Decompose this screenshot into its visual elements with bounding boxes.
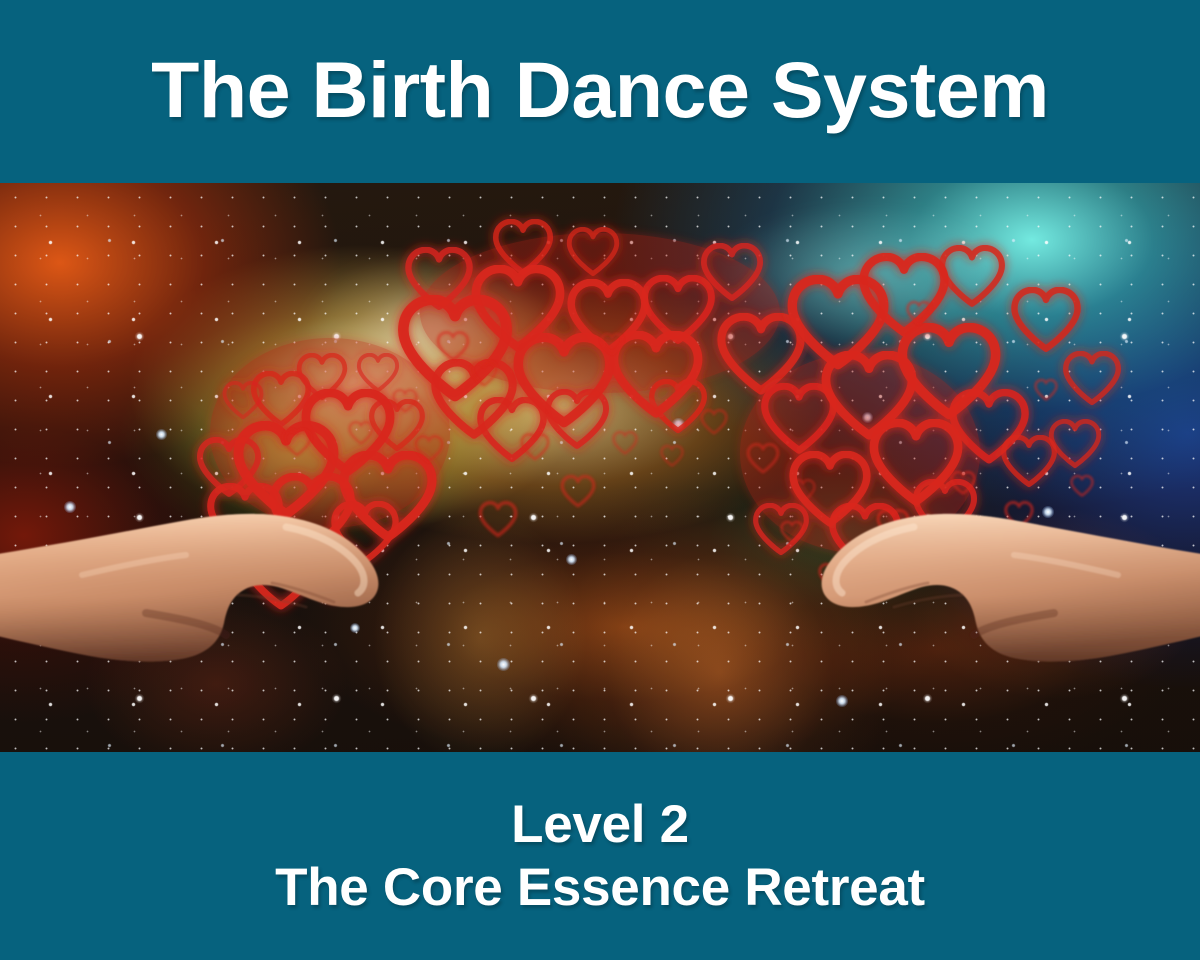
footer-band: Level 2 The Core Essence Retreat [0, 752, 1200, 960]
hero-image [0, 183, 1200, 752]
subtitle-label: The Core Essence Retreat [275, 860, 925, 915]
level-label: Level 2 [511, 797, 689, 852]
page-title: The Birth Dance System [151, 50, 1049, 129]
nebula-veil-bright [0, 183, 1200, 752]
poster-root: The Birth Dance System [0, 0, 1200, 960]
title-band: The Birth Dance System [0, 0, 1200, 183]
